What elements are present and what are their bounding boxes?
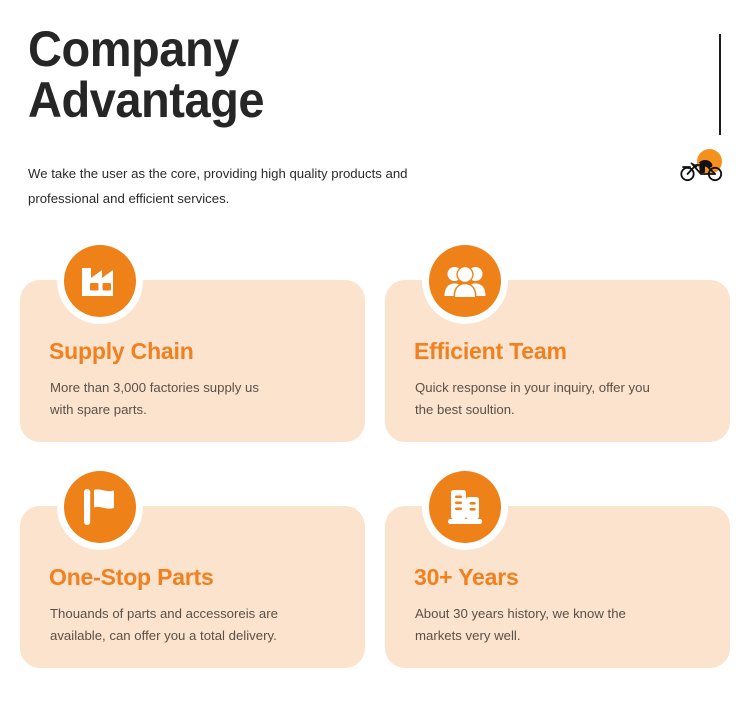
advantage-card-efficient-team[interactable]: Efficient Team Quick response in your in… — [385, 280, 730, 442]
motorcycle-glyph — [679, 153, 725, 183]
card-description: Thouands of parts and accessoreis are av… — [50, 603, 350, 647]
page-subtitle: We take the user as the core, providing … — [28, 161, 518, 211]
card-icon-wrapper — [422, 464, 508, 550]
card-icon-wrapper — [57, 238, 143, 324]
factory-icon — [64, 245, 136, 317]
header-section: Company Advantage We take the user as th… — [0, 0, 750, 225]
advantage-card-supply-chain[interactable]: Supply Chain More than 3,000 factories s… — [20, 280, 365, 442]
page-title: Company Advantage — [28, 24, 479, 126]
card-icon-wrapper — [57, 464, 143, 550]
card-description: More than 3,000 factories supply us with… — [50, 377, 350, 421]
people-group-glyph — [444, 263, 486, 299]
vertical-rule-icon — [719, 34, 721, 135]
factory-glyph — [80, 262, 120, 300]
flag-icon — [64, 471, 136, 543]
buildings-icon — [429, 471, 501, 543]
card-description: About 30 years history, we know the mark… — [415, 603, 715, 647]
motorcycle-icon — [679, 149, 725, 187]
card-description: Quick response in your inquiry, offer yo… — [415, 377, 715, 421]
card-icon-wrapper — [422, 238, 508, 324]
flag-glyph — [81, 487, 119, 527]
card-title: Efficient Team — [414, 338, 567, 365]
advantage-card-30-years[interactable]: 30+ Years About 30 years history, we kno… — [385, 506, 730, 668]
card-title: Supply Chain — [49, 338, 194, 365]
advantage-card-one-stop-parts[interactable]: One-Stop Parts Thouands of parts and acc… — [20, 506, 365, 668]
people-group-icon — [429, 245, 501, 317]
card-title: 30+ Years — [414, 564, 519, 591]
buildings-glyph — [445, 488, 485, 526]
card-title: One-Stop Parts — [49, 564, 214, 591]
